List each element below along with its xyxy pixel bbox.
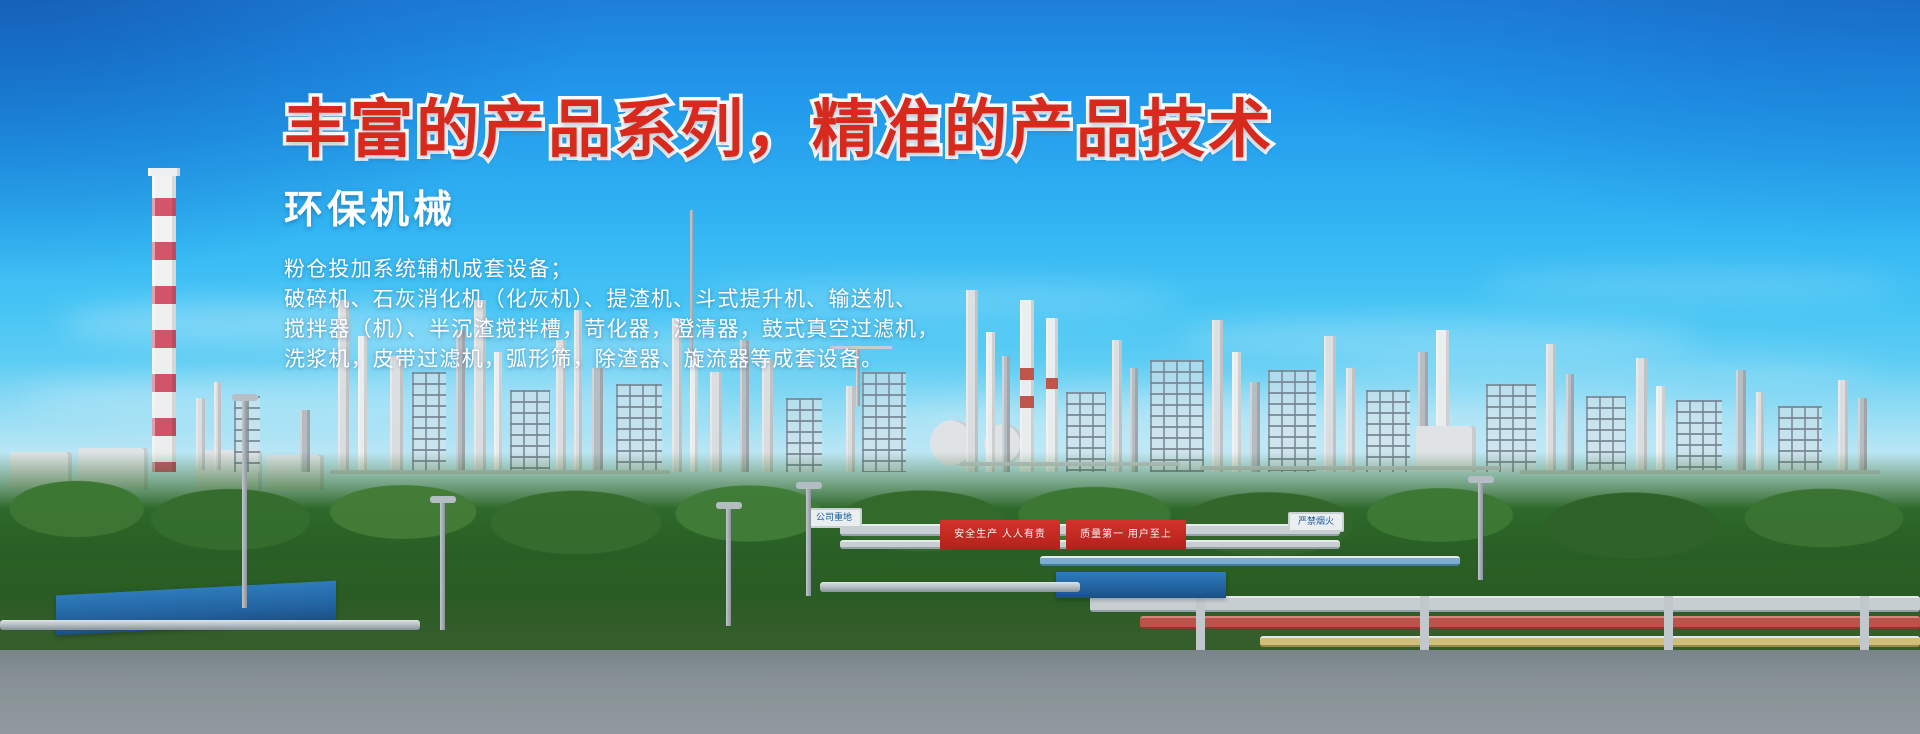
lamp-head	[716, 502, 742, 509]
blue-roof-building	[1056, 572, 1226, 598]
guardrail	[0, 620, 420, 630]
lamp-post	[440, 500, 445, 630]
stack-red-band	[1046, 378, 1058, 389]
stack-red-band	[1020, 396, 1034, 408]
striped-chimney	[152, 172, 176, 472]
lamp-head	[1468, 476, 1494, 483]
site-banner: 质量第一 用户至上	[1066, 520, 1186, 550]
plant-sign: 严禁烟火	[1288, 512, 1344, 532]
lamp-head	[232, 394, 258, 401]
banner-subtitle: 环保机械	[284, 190, 1284, 233]
description-line: 洗浆机，皮带过滤机，弧形筛，除渣器、旋流器等成套设备。	[284, 345, 1284, 375]
site-banner: 安全生产 人人有责	[940, 520, 1060, 550]
foreground-pipe	[1090, 596, 1920, 612]
lamp-post	[242, 398, 247, 608]
banner-copy: 丰富的产品系列，精准的产品技术 环保机械 粉仓投加系统辅机成套设备； 破碎机、石…	[284, 96, 1284, 375]
lamp-post	[806, 486, 811, 596]
banner-headline: 丰富的产品系列，精准的产品技术	[284, 96, 1284, 164]
chimney-cap	[148, 168, 180, 176]
banner-description: 粉仓投加系统辅机成套设备； 破碎机、石灰消化机（化灰机）、提渣机、斗式提升机、输…	[284, 255, 1284, 375]
description-line: 粉仓投加系统辅机成套设备；	[284, 255, 1284, 285]
hero-banner: 安全生产 人人有责 质量第一 用户至上 公司重地 严禁烟火 丰富的产品系列，精准…	[0, 0, 1920, 734]
guardrail	[820, 582, 1080, 592]
lamp-post	[1478, 480, 1483, 580]
lamp-head	[796, 482, 822, 489]
road	[0, 650, 1920, 734]
foreground-pipe-yellow	[1260, 636, 1920, 647]
pipeline-blue	[1040, 556, 1460, 566]
plant-sign: 公司重地	[806, 508, 862, 528]
description-line: 搅拌器（机）、半沉渣搅拌槽，苛化器，澄清器，鼓式真空过滤机，	[284, 315, 1284, 345]
foreground-pipe-red	[1140, 616, 1920, 629]
lamp-post	[726, 506, 731, 626]
lamp-head	[430, 496, 456, 503]
description-line: 破碎机、石灰消化机（化灰机）、提渣机、斗式提升机、输送机、	[284, 285, 1284, 315]
